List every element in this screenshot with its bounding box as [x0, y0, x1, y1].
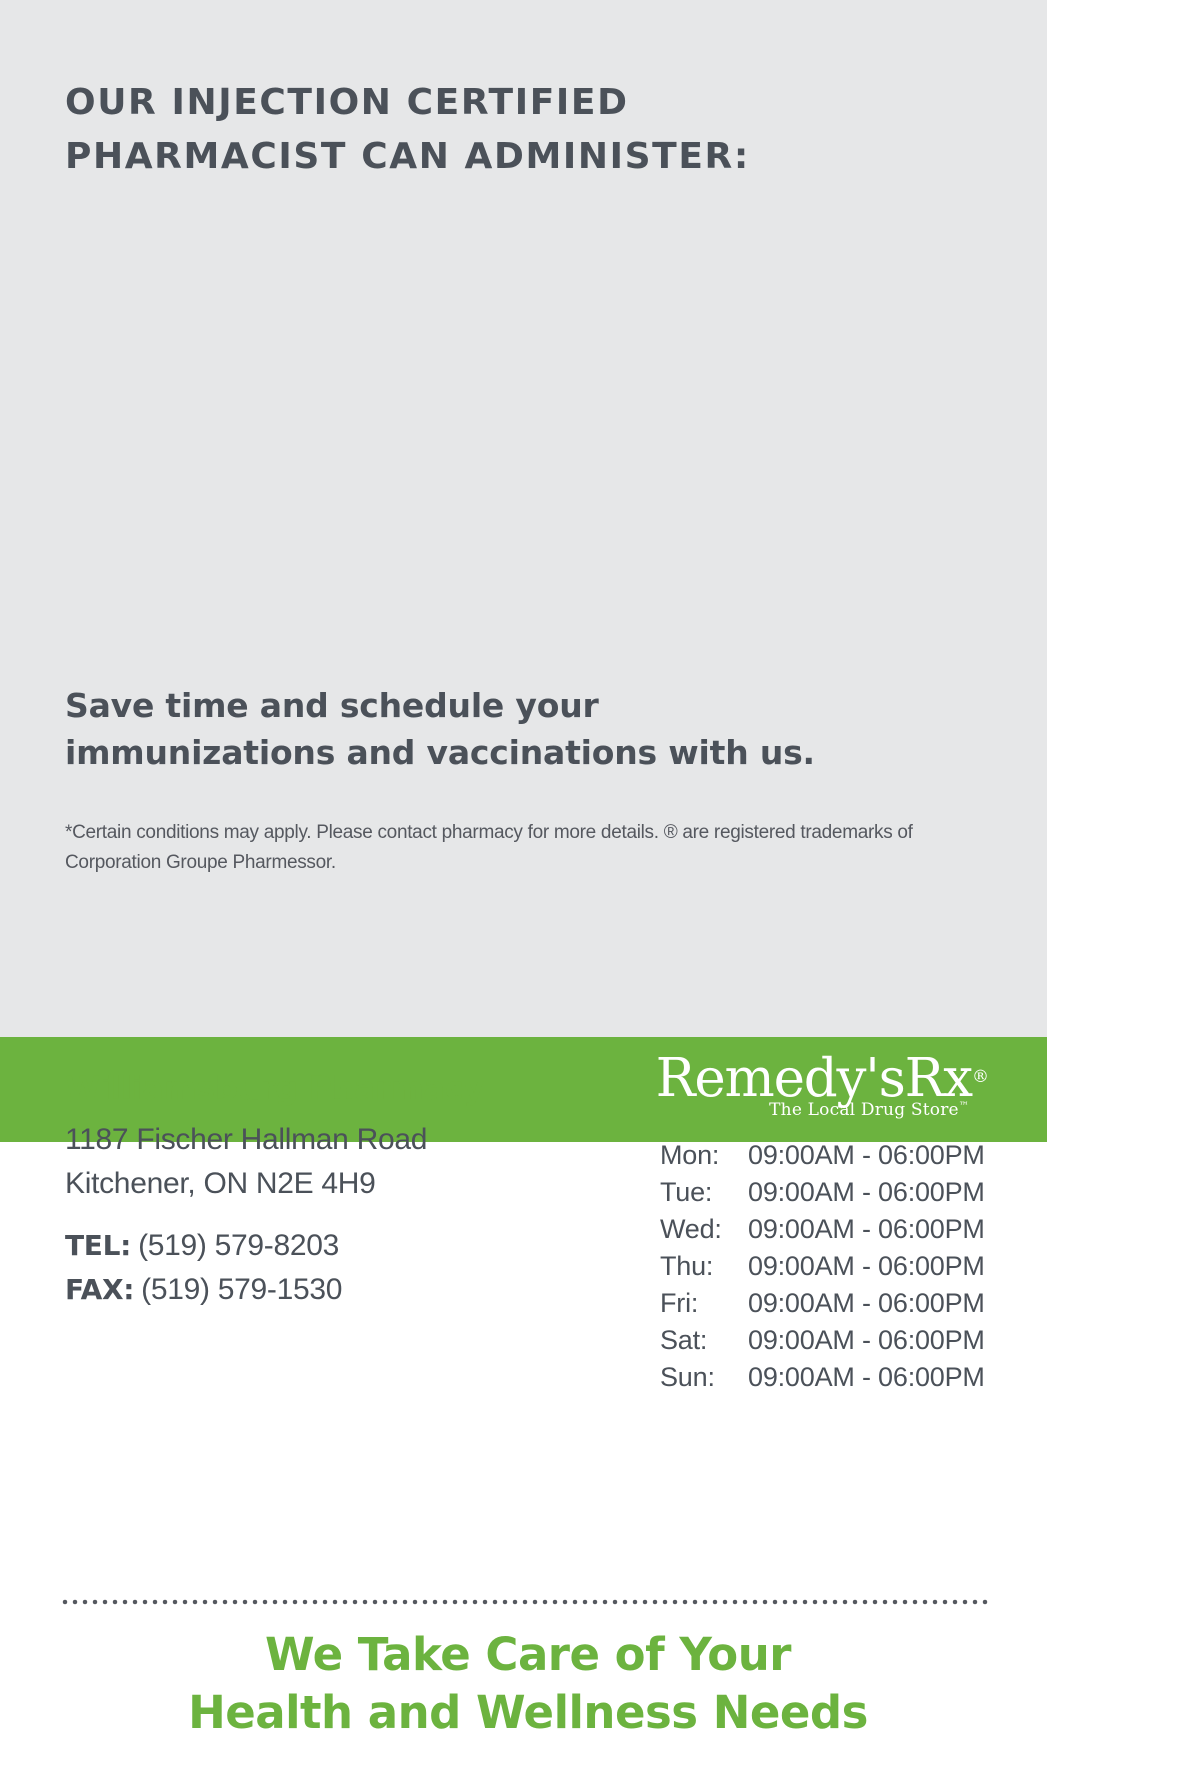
fax-row: FAX:(519) 579-1530 — [65, 1268, 342, 1312]
hours-time-value: 09:00AM - 06:00PM — [748, 1362, 985, 1393]
promo-heading-line-2: immunizations and vaccinations with us. — [65, 729, 945, 776]
dotted-divider — [60, 1598, 990, 1606]
telephone-label: TEL: — [65, 1229, 131, 1262]
hours-time-value: 09:00AM - 06:00PM — [748, 1214, 985, 1245]
footer-tagline-line-2: Health and Wellness Needs — [0, 1684, 1056, 1742]
hours-time-value: 09:00AM - 06:00PM — [748, 1288, 985, 1319]
hours-row: Mon: 09:00AM - 06:00PM — [660, 1140, 1010, 1177]
hours-row: Thu: 09:00AM - 06:00PM — [660, 1251, 1010, 1288]
disclaimer-text: *Certain conditions may apply. Please co… — [65, 818, 990, 878]
hours-row: Sun: 09:00AM - 06:00PM — [660, 1362, 1010, 1399]
hours-day-label: Sat: — [660, 1325, 748, 1356]
hours-row: Wed: 09:00AM - 06:00PM — [660, 1214, 1010, 1251]
hours-time-value: 09:00AM - 06:00PM — [748, 1251, 985, 1282]
hours-row: Tue: 09:00AM - 06:00PM — [660, 1177, 1010, 1214]
telephone-value[interactable]: (519) 579-8203 — [138, 1229, 339, 1262]
store-address-line-1: 1187 Fischer Hallman Road — [65, 1118, 427, 1162]
hours-day-label: Fri: — [660, 1288, 748, 1319]
hours-day-label: Thu: — [660, 1251, 748, 1282]
telephone-row: TEL:(519) 579-8203 — [65, 1224, 342, 1268]
hours-day-label: Wed: — [660, 1214, 748, 1245]
hours-row: Fri: 09:00AM - 06:00PM — [660, 1288, 1010, 1325]
promo-heading-line-1: Save time and schedule your — [65, 682, 945, 729]
store-address: 1187 Fischer Hallman Road Kitchener, ON … — [65, 1118, 427, 1206]
hours-day-label: Sun: — [660, 1362, 748, 1393]
store-hours: Mon: 09:00AM - 06:00PM Tue: 09:00AM - 06… — [660, 1140, 1010, 1399]
hours-row: Sat: 09:00AM - 06:00PM — [660, 1325, 1010, 1362]
store-name: Williamsburg Pharmacy — [65, 1068, 484, 1108]
brand-logo: Remedy'sRx® The Local Drug Store™ — [656, 1049, 989, 1120]
fax-value: (519) 579-1530 — [141, 1273, 342, 1306]
registered-trademark-icon: ® — [972, 1067, 989, 1087]
hours-time-value: 09:00AM - 06:00PM — [748, 1325, 985, 1356]
disclaimer-line-1: *Certain conditions may apply. Please co… — [65, 818, 990, 848]
footer-tagline-line-1: We Take Care of Your — [0, 1626, 1056, 1684]
page-title-line-2: PHARMACIST CAN ADMINISTER: — [65, 130, 965, 184]
page-title: OUR INJECTION CERTIFIED PHARMACIST CAN A… — [65, 76, 965, 184]
disclaimer-line-2: Corporation Groupe Pharmessor. — [65, 848, 990, 878]
store-contact: TEL:(519) 579-8203 FAX:(519) 579-1530 — [65, 1224, 342, 1312]
trademark-icon: ™ — [959, 1101, 969, 1112]
hours-time-value: 09:00AM - 06:00PM — [748, 1177, 985, 1208]
brand-logo-tagline-text: The Local Drug Store — [769, 1100, 959, 1120]
store-address-line-2: Kitchener, ON N2E 4H9 — [65, 1162, 427, 1206]
promo-heading: Save time and schedule your immunization… — [65, 682, 945, 776]
hours-time-value: 09:00AM - 06:00PM — [748, 1140, 985, 1171]
hours-day-label: Tue: — [660, 1177, 748, 1208]
footer-tagline: We Take Care of Your Health and Wellness… — [0, 1626, 1056, 1742]
hours-day-label: Mon: — [660, 1140, 748, 1171]
page-title-line-1: OUR INJECTION CERTIFIED — [65, 76, 965, 130]
fax-label: FAX: — [65, 1273, 134, 1306]
